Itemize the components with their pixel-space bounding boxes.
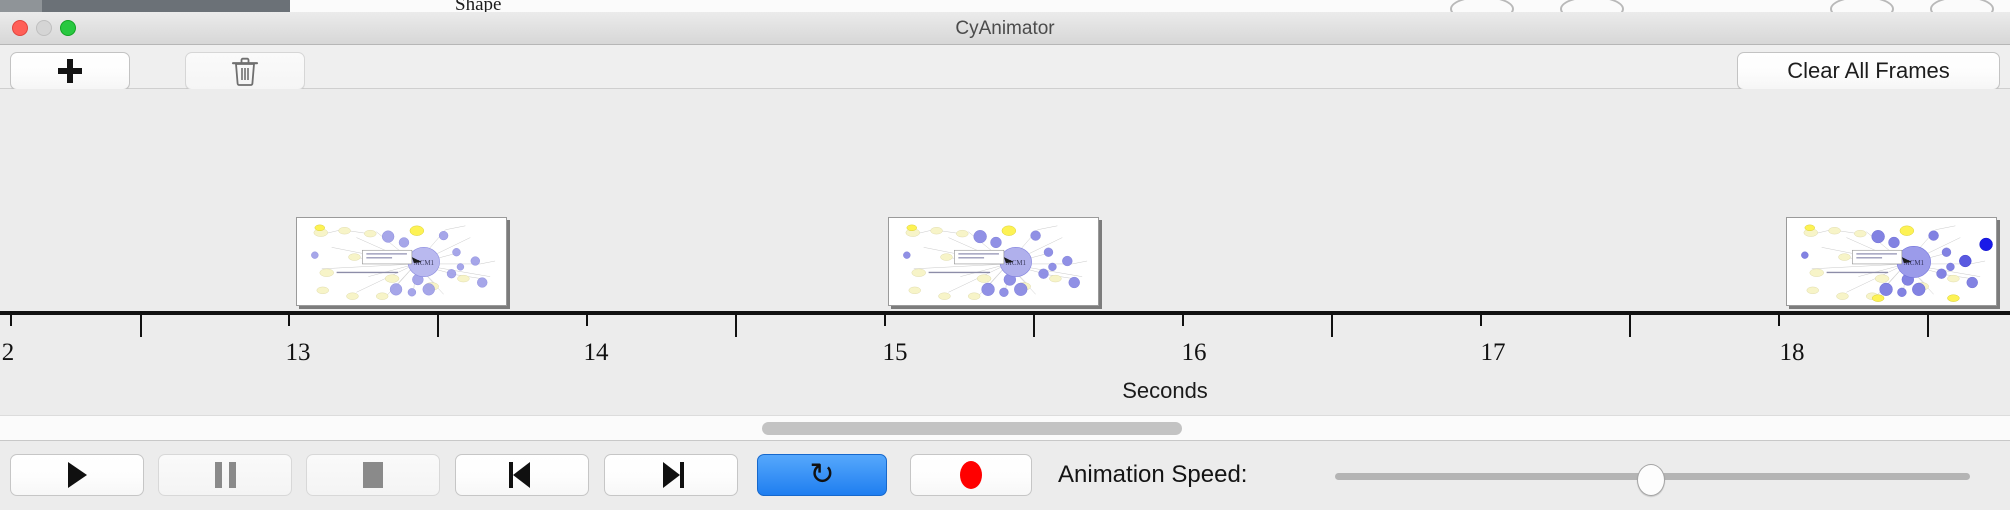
loop-button[interactable]: ↻ (757, 454, 887, 496)
background-chunk (42, 0, 290, 12)
axis-tick-minor (1182, 315, 1184, 326)
background-decoration (1830, 0, 1894, 12)
background-decoration (1450, 0, 1514, 12)
title-bar[interactable]: CyAnimator (0, 12, 2010, 45)
background-decoration (1560, 0, 1624, 12)
timeline-frame-thumbnail[interactable]: MCM1 (296, 217, 507, 306)
stop-button[interactable] (306, 454, 440, 496)
timeline-panel[interactable]: MCM1 (0, 89, 2010, 415)
axis-tick-major (437, 315, 439, 337)
record-icon (960, 461, 982, 489)
axis-tick-minor (884, 315, 886, 326)
animation-speed-label: Animation Speed: (1058, 454, 1247, 496)
loop-icon: ↻ (809, 460, 834, 490)
stop-icon (363, 462, 383, 488)
background-window-strip: Shape (0, 0, 2010, 12)
pause-button[interactable] (158, 454, 292, 496)
axis-tick-minor (288, 315, 290, 326)
axis-tick-major (1629, 315, 1631, 337)
window-title: CyAnimator (0, 12, 2010, 45)
network-thumbnail-2: MCM1 (889, 218, 1098, 305)
animation-speed-slider-thumb[interactable] (1637, 464, 1665, 496)
axis-tick-major (1331, 315, 1333, 337)
skip-previous-button[interactable] (455, 454, 589, 496)
background-decoration (1930, 0, 1994, 12)
top-toolbar: Clear All Frames (0, 45, 2010, 89)
network-thumbnail-3: MCM1 (1787, 218, 1996, 305)
background-chunk (820, 0, 881, 12)
clear-all-frames-button[interactable]: Clear All Frames (1737, 52, 2000, 90)
axis-title: Seconds (1122, 378, 1208, 404)
playback-toolbar: ↻ Animation Speed: (0, 442, 2010, 510)
skip-next-icon (658, 462, 684, 488)
background-text-fragment: Shape (455, 0, 501, 12)
axis-tick-minor (10, 315, 12, 326)
axis-tick-label: 14 (584, 339, 609, 367)
network-thumbnail-1: MCM1 (297, 218, 506, 305)
plus-icon (58, 59, 82, 83)
trash-icon (231, 56, 259, 86)
cyanimator-window: Shape CyAnimator Clear All Frames (0, 0, 2010, 510)
axis-tick-major (1927, 315, 1929, 337)
axis-tick-major (1033, 315, 1035, 337)
axis-tick-major (735, 315, 737, 337)
pause-icon (215, 462, 236, 488)
axis-tick-label: 18 (1780, 339, 1805, 367)
background-chunk (880, 0, 1201, 12)
axis-tick-minor (586, 315, 588, 326)
axis-tick-label: 16 (1182, 339, 1207, 367)
timeline-frame-thumbnail[interactable]: MCM1 (1786, 217, 1997, 306)
record-button[interactable] (910, 454, 1032, 496)
axis-tick-minor (1778, 315, 1780, 326)
skip-previous-icon (509, 462, 535, 488)
skip-next-button[interactable] (604, 454, 738, 496)
axis-tick-label: 2 (2, 339, 15, 367)
add-frame-button[interactable] (10, 52, 130, 90)
axis-tick-label: 13 (286, 339, 311, 367)
axis-tick-minor (1480, 315, 1482, 326)
axis-tick-major (140, 315, 142, 337)
axis-tick-label: 17 (1481, 339, 1506, 367)
play-icon (68, 462, 87, 488)
timeline-frame-thumbnail[interactable]: MCM1 (888, 217, 1099, 306)
timeline-scrollbar[interactable] (0, 415, 2010, 441)
timeline-axis (0, 311, 2010, 315)
background-chunk (760, 0, 821, 12)
scrollbar-thumb[interactable] (762, 422, 1182, 435)
delete-frame-button[interactable] (185, 52, 305, 90)
background-chunk (0, 0, 42, 12)
play-button[interactable] (10, 454, 144, 496)
background-chunk (290, 0, 761, 12)
axis-tick-label: 15 (883, 339, 908, 367)
